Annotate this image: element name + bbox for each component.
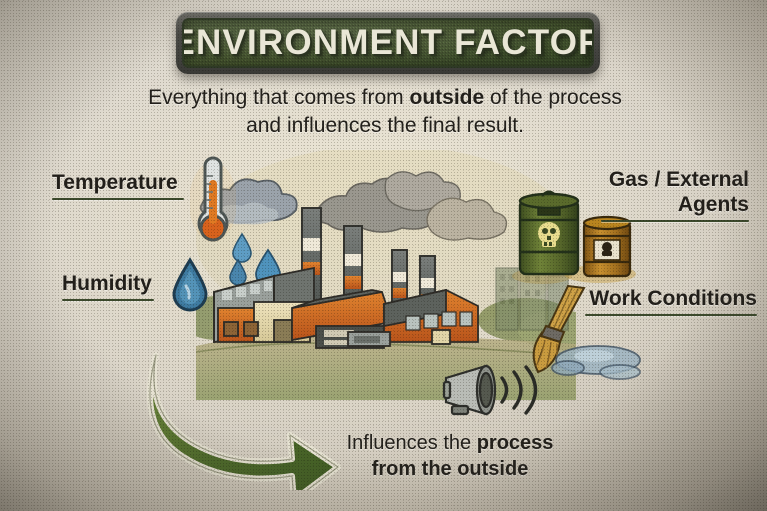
sound-waves xyxy=(502,367,536,413)
label-temperature: Temperature xyxy=(52,170,184,200)
subtitle-emphasis-outside: outside xyxy=(410,86,485,109)
subtitle-text: Everything that comes from outside of th… xyxy=(120,84,650,140)
water-drop-icon xyxy=(168,256,212,316)
label-humidity: Humidity xyxy=(62,271,154,301)
title-banner: ENVIRONMENT FACTOR xyxy=(176,12,600,74)
infographic-poster: ENVIRONMENT FACTOR Everything that comes… xyxy=(0,0,767,511)
label-work-conditions-underline xyxy=(585,314,757,316)
megaphone-icon xyxy=(442,362,560,426)
page-title: ENVIRONMENT FACTOR xyxy=(182,23,594,63)
title-banner-panel: ENVIRONMENT FACTOR xyxy=(182,18,594,68)
hazard-barrel-orange-icon xyxy=(584,217,630,276)
label-humidity-underline xyxy=(62,299,154,301)
caption-part-1: Influences the xyxy=(347,432,477,454)
caption-line-2: from the outside xyxy=(372,458,529,480)
label-gas-line-1: Gas / External xyxy=(601,167,749,192)
label-gas-underline xyxy=(601,220,749,222)
label-work-conditions: Work Conditions xyxy=(585,286,757,316)
subtitle-line-2: and influences the final result. xyxy=(246,114,524,137)
thermometer-icon xyxy=(190,152,236,252)
label-temperature-text: Temperature xyxy=(52,170,184,195)
label-gas-external-agents: Gas / External Agents xyxy=(601,167,749,222)
label-humidity-text: Humidity xyxy=(62,271,154,296)
bottom-caption: Influences the process from the outside xyxy=(300,430,600,482)
subtitle-part-2: of the process xyxy=(484,86,622,109)
label-work-conditions-text: Work Conditions xyxy=(585,286,757,311)
spill-puddle-icon xyxy=(552,346,640,379)
label-gas-line-2: Agents xyxy=(601,192,749,217)
label-temperature-underline xyxy=(52,198,184,200)
caption-emphasis-process: process xyxy=(477,432,554,454)
hazard-barrel-green-icon xyxy=(520,192,578,274)
subtitle-part-1: Everything that comes from xyxy=(148,86,409,109)
